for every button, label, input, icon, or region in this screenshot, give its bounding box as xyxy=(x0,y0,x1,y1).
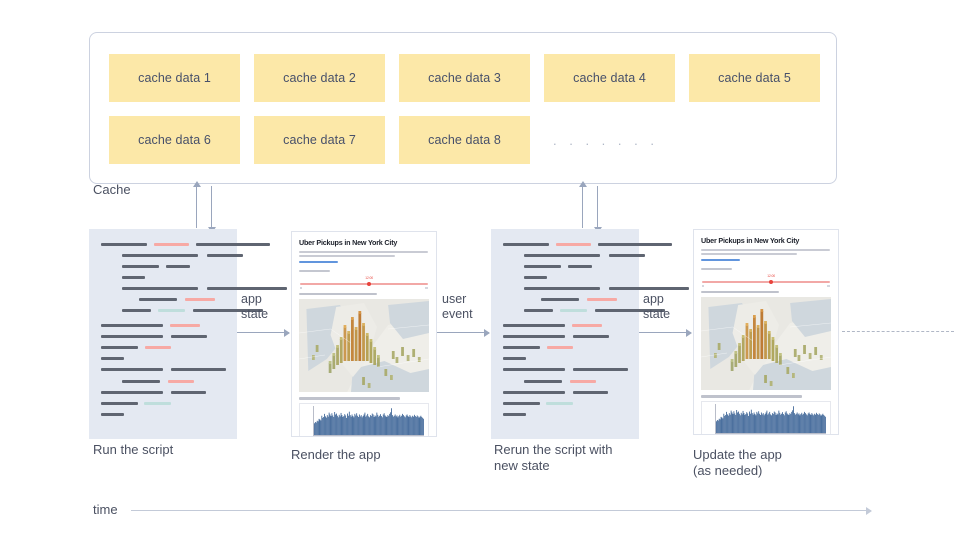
code-line xyxy=(503,402,540,405)
cache-chip: cache data 3 xyxy=(399,54,530,102)
app-title: Uber Pickups in New York City xyxy=(299,238,429,247)
code-line xyxy=(171,391,206,394)
code-line xyxy=(139,298,177,301)
flow-label-line2: event xyxy=(442,307,473,321)
diagram-canvas: cache data 1cache data 2cache data 3cach… xyxy=(0,0,960,540)
app-content: Uber Pickups in New York City12:00 xyxy=(292,232,436,436)
code-line xyxy=(573,335,609,338)
slider-track[interactable] xyxy=(702,281,830,283)
code-line xyxy=(122,276,145,279)
code-line xyxy=(573,391,608,394)
code-line xyxy=(524,265,561,268)
code-line xyxy=(503,357,526,360)
pickups-bar-chart xyxy=(299,403,429,437)
flow-label-line2: state xyxy=(241,307,268,321)
code-line xyxy=(524,254,600,257)
map-caption xyxy=(701,291,779,293)
flow-continuation-dashes xyxy=(842,331,954,332)
caption-line1: Update the app xyxy=(693,447,782,462)
slider-min-label xyxy=(702,285,704,287)
code-line xyxy=(122,380,160,383)
cache-chip: cache data 1 xyxy=(109,54,240,102)
code-line xyxy=(556,243,591,246)
cache-ellipsis: . . . . . . . xyxy=(544,116,675,164)
code-line xyxy=(145,346,171,349)
code-line xyxy=(122,254,198,257)
code-line xyxy=(598,243,672,246)
app-description xyxy=(701,249,831,255)
cache-container: cache data 1cache data 2cache data 3cach… xyxy=(89,32,837,184)
pickup-map[interactable] xyxy=(299,299,429,392)
code-line xyxy=(503,243,549,246)
code-line xyxy=(541,298,579,301)
code-line xyxy=(503,324,565,327)
code-line xyxy=(166,265,190,268)
pickup-map[interactable] xyxy=(701,297,831,390)
flow-label-line1: app xyxy=(643,292,664,306)
flow-label-app-state-2: app state xyxy=(643,292,670,322)
chart-caption xyxy=(701,395,802,397)
script-panel-rerun xyxy=(491,229,639,439)
code-line xyxy=(207,287,287,290)
cache-chip: cache data 4 xyxy=(544,54,675,102)
cache-chip: cache data 7 xyxy=(254,116,385,164)
app-panel-render: Uber Pickups in New York City12:00 xyxy=(291,231,437,437)
hour-slider[interactable]: 12:00 xyxy=(299,278,429,290)
time-axis-label: time xyxy=(93,502,118,517)
code-line xyxy=(609,287,689,290)
code-line xyxy=(587,298,617,301)
chart-caption xyxy=(299,397,400,399)
code-line xyxy=(101,368,163,371)
code-line xyxy=(568,265,592,268)
flow-label-app-state-1: app state xyxy=(241,292,268,322)
code-line xyxy=(547,346,573,349)
slider-value: 12:00 xyxy=(365,276,373,280)
slider-handle[interactable] xyxy=(367,282,371,286)
code-line xyxy=(503,368,565,371)
cache-chip: cache data 8 xyxy=(399,116,530,164)
cache-label: Cache xyxy=(93,182,131,197)
code-line xyxy=(207,254,243,257)
code-line xyxy=(570,380,596,383)
slider-min-label xyxy=(300,287,302,289)
caption-render-app: Render the app xyxy=(291,447,381,463)
app-description-line xyxy=(701,253,797,255)
app-description xyxy=(299,251,429,257)
cache-chip: cache data 5 xyxy=(689,54,820,102)
code-line xyxy=(122,309,151,312)
code-line xyxy=(503,346,540,349)
cache-chip-grid: cache data 1cache data 2cache data 3cach… xyxy=(109,54,821,164)
code-line xyxy=(524,380,562,383)
caption-line2: new state xyxy=(494,458,550,473)
flow-arrow-user-event xyxy=(437,332,489,333)
code-line xyxy=(524,287,600,290)
app-title: Uber Pickups in New York City xyxy=(701,236,831,245)
app-description-line xyxy=(701,249,830,251)
hour-slider[interactable]: 12:00 xyxy=(701,276,831,288)
code-line xyxy=(609,254,645,257)
code-line xyxy=(524,276,547,279)
code-line xyxy=(101,335,163,338)
code-line xyxy=(144,402,171,405)
code-line xyxy=(122,265,159,268)
code-line xyxy=(546,402,573,405)
slider-value: 12:00 xyxy=(767,274,775,278)
code-line xyxy=(503,335,565,338)
code-line xyxy=(101,357,124,360)
app-content: Uber Pickups in New York City12:00 xyxy=(694,230,838,434)
map-caption xyxy=(299,293,377,295)
code-line xyxy=(185,298,215,301)
code-line xyxy=(122,287,198,290)
slider-label xyxy=(701,268,732,270)
code-line xyxy=(158,309,185,312)
slider-max-label xyxy=(425,287,428,289)
code-line xyxy=(101,391,163,394)
app-description-line xyxy=(299,255,395,257)
code-line xyxy=(572,324,602,327)
cache-write-arrow-2 xyxy=(597,186,598,228)
cache-write-arrow-1 xyxy=(211,186,212,228)
app-source-link[interactable] xyxy=(701,259,740,261)
code-line xyxy=(101,413,124,416)
caption-rerun-script: Rerun the script with new state xyxy=(494,442,613,474)
cache-chip: cache data 6 xyxy=(109,116,240,164)
app-source-link[interactable] xyxy=(299,261,338,263)
slider-track[interactable] xyxy=(300,283,428,285)
slider-label xyxy=(299,270,330,272)
app-panel-update: Uber Pickups in New York City12:00 xyxy=(693,229,839,435)
code-line xyxy=(168,380,194,383)
flow-arrow-app-state-2 xyxy=(639,332,691,333)
flow-label-user-event: user event xyxy=(442,292,473,322)
flow-label-line2: state xyxy=(643,307,670,321)
code-line xyxy=(101,243,147,246)
code-line xyxy=(503,413,526,416)
caption-update-app: Update the app (as needed) xyxy=(693,447,782,479)
cache-read-arrow-2 xyxy=(582,186,583,228)
flow-label-line1: app xyxy=(241,292,262,306)
pickups-bar-chart xyxy=(701,401,831,435)
caption-line2: (as needed) xyxy=(693,463,762,478)
code-line xyxy=(154,243,189,246)
code-line xyxy=(171,335,207,338)
app-description-line xyxy=(299,251,428,253)
code-line xyxy=(560,309,587,312)
code-line xyxy=(171,368,226,371)
flow-label-line1: user xyxy=(442,292,466,306)
code-line xyxy=(170,324,200,327)
code-line xyxy=(503,391,565,394)
time-axis-line xyxy=(131,510,871,511)
cache-chip: cache data 2 xyxy=(254,54,385,102)
code-line xyxy=(196,243,270,246)
code-line xyxy=(101,324,163,327)
script-panel-run xyxy=(89,229,237,439)
code-line xyxy=(101,402,138,405)
code-line xyxy=(573,368,628,371)
code-line xyxy=(101,346,138,349)
slider-handle[interactable] xyxy=(769,280,773,284)
caption-line1: Rerun the script with xyxy=(494,442,613,457)
slider-max-label xyxy=(827,285,830,287)
cache-read-arrow-1 xyxy=(196,186,197,228)
flow-arrow-app-state-1 xyxy=(237,332,289,333)
code-line xyxy=(524,309,553,312)
caption-run-script: Run the script xyxy=(93,442,173,458)
